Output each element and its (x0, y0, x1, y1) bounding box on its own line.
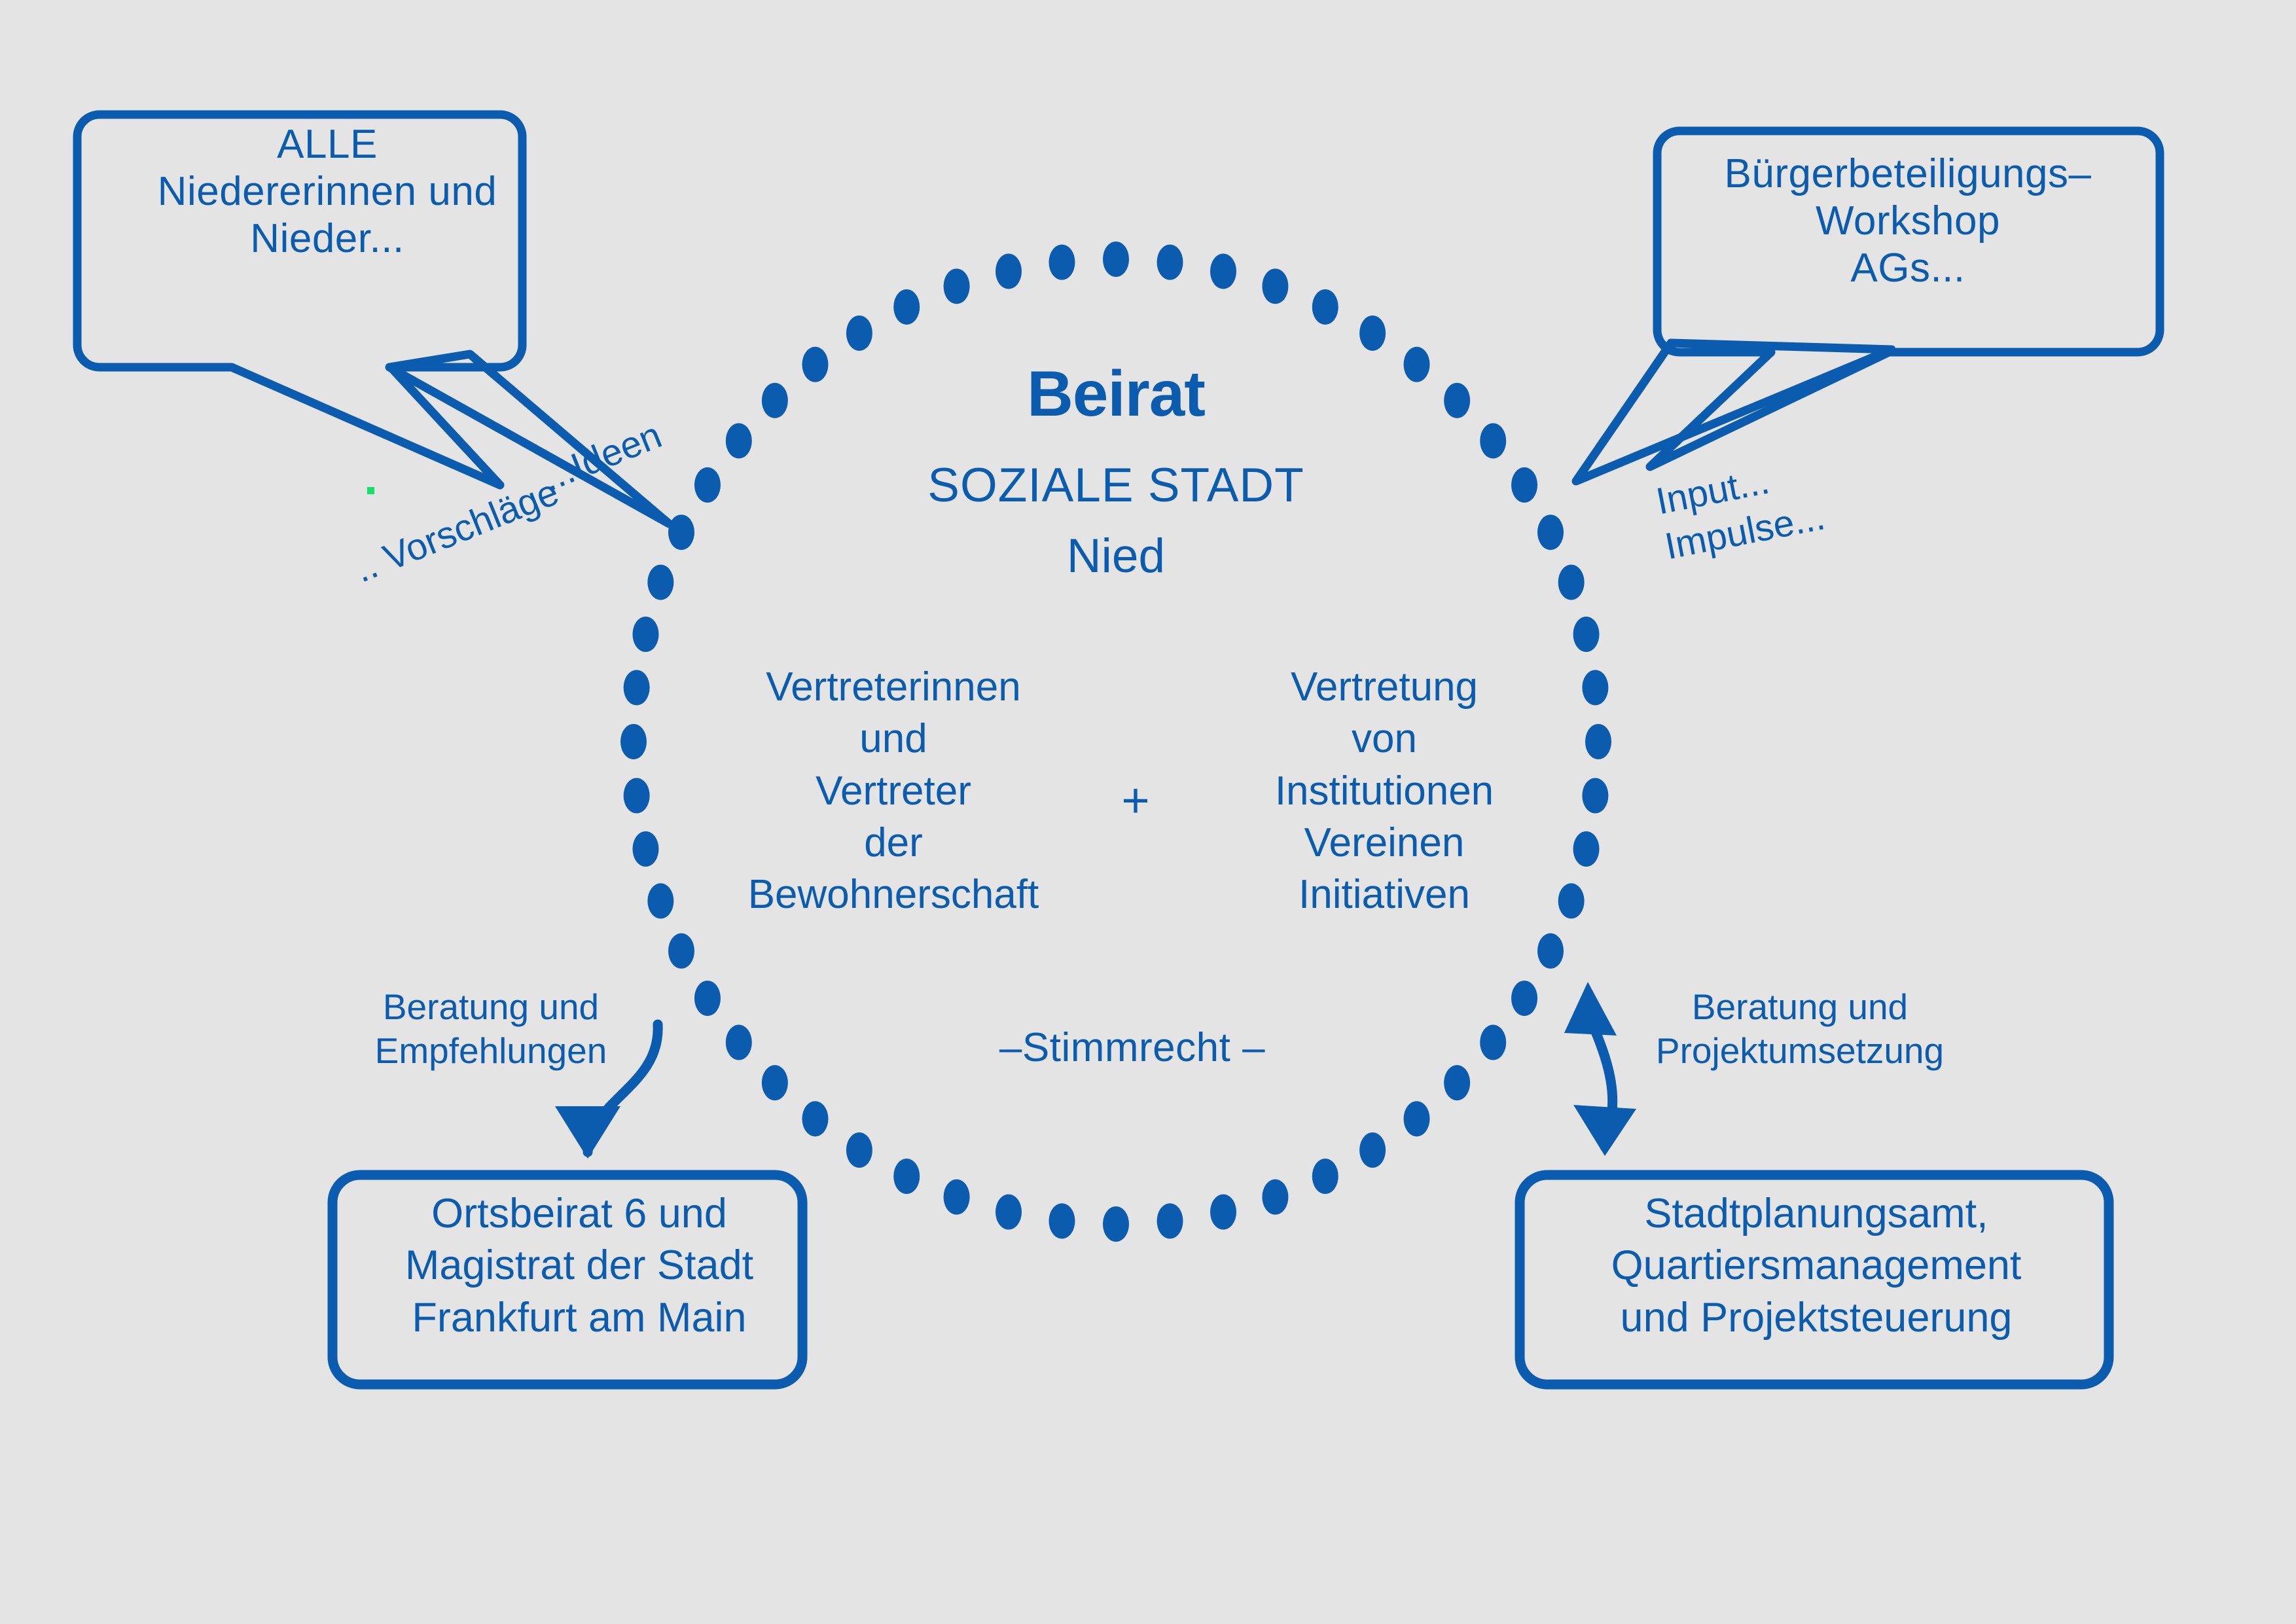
arrowhead-down (1573, 1105, 1636, 1156)
ring-dot (1262, 268, 1288, 304)
ring-dot (762, 1065, 788, 1100)
ring-dot (632, 831, 658, 867)
ring-dot (624, 778, 650, 814)
ring-dot (1480, 1025, 1506, 1060)
ring-dot (1262, 1180, 1288, 1215)
ring-dot (1157, 245, 1183, 280)
flow-caption-right: Beratung und Projektumsetzung (1630, 985, 1970, 1073)
ring-dot (893, 1159, 920, 1194)
circle-subtitle-line1: SOZIALE STADT (818, 458, 1414, 514)
ring-dot (632, 617, 658, 652)
ring-dot (1558, 565, 1585, 600)
ring-dot (944, 268, 970, 304)
diagram-canvas: ALLE Niedererinnen und Nieder... Bürgerb… (0, 0, 2296, 1624)
ring-dot (1157, 1203, 1183, 1238)
circle-column-right: Vertretung von Institutionen Vereinen In… (1201, 661, 1568, 921)
ring-dot (1049, 245, 1075, 280)
ring-dot (1210, 1195, 1236, 1230)
circle-plus-operator: + (1086, 772, 1185, 829)
ring-dot (1404, 1101, 1430, 1136)
flow-arrow-right (1564, 982, 1636, 1156)
ring-dot (1359, 1132, 1386, 1168)
ring-dot (1103, 242, 1129, 277)
ring-dot (1444, 1065, 1470, 1100)
ring-dot (694, 467, 721, 503)
ring-dot (1049, 1203, 1075, 1238)
ring-dot (846, 316, 872, 351)
ring-dot (893, 289, 920, 325)
ring-dot (668, 514, 694, 550)
ring-dot (802, 1101, 828, 1136)
ring-dot (647, 565, 673, 600)
ring-dot (1573, 831, 1600, 867)
ring-dot (1585, 724, 1611, 759)
circle-subtitle-line2: Nied (818, 529, 1414, 585)
ring-dot (726, 1025, 752, 1060)
green-pixel-artifact (367, 487, 374, 494)
ring-dot (1537, 514, 1564, 550)
ring-dot (762, 383, 788, 418)
ring-dot (1312, 1159, 1338, 1194)
ring-dot (1312, 289, 1338, 325)
ring-dot (1511, 981, 1537, 1016)
bubble-right-label: Bürgerbeteiligungs– Workshop AGs... (1672, 151, 2144, 292)
box-left-label: Ortsbeirat 6 und Magistrat der Stadt Fra… (353, 1188, 805, 1344)
ring-dot (647, 883, 673, 918)
ring-dot (1480, 423, 1506, 458)
ring-dot (1359, 316, 1386, 351)
ring-dot (726, 423, 752, 458)
box-right-label: Stadtplanungsamt, Quartiersmanagement un… (1532, 1188, 2101, 1344)
circle-column-left: Vertreterinnen und Vertreter der Bewohne… (691, 661, 1096, 921)
ring-dot (846, 1132, 872, 1168)
ring-dot (996, 1195, 1022, 1230)
ring-dot (668, 933, 694, 969)
ring-dot (620, 724, 647, 759)
ring-dot (996, 253, 1022, 289)
ring-dot (1582, 778, 1608, 814)
bubble-left-label: ALLE Niedererinnen und Nieder... (92, 121, 563, 262)
circle-title: Beirat (818, 357, 1414, 431)
circle-footnote: –Stimmrecht – (916, 1024, 1348, 1072)
ring-dot (624, 670, 650, 705)
ring-dot (1537, 933, 1564, 969)
ring-dot (1573, 617, 1600, 652)
flow-caption-left: Beratung und Empfehlungen (334, 985, 648, 1073)
ring-dot (1582, 670, 1608, 705)
ring-dot (694, 981, 721, 1016)
arrowhead-up (1564, 982, 1617, 1036)
ring-dot (1210, 253, 1236, 289)
ring-dot (1103, 1206, 1129, 1242)
ring-dot (1511, 467, 1537, 503)
ring-dot (944, 1180, 970, 1215)
ring-dot (1444, 383, 1470, 418)
